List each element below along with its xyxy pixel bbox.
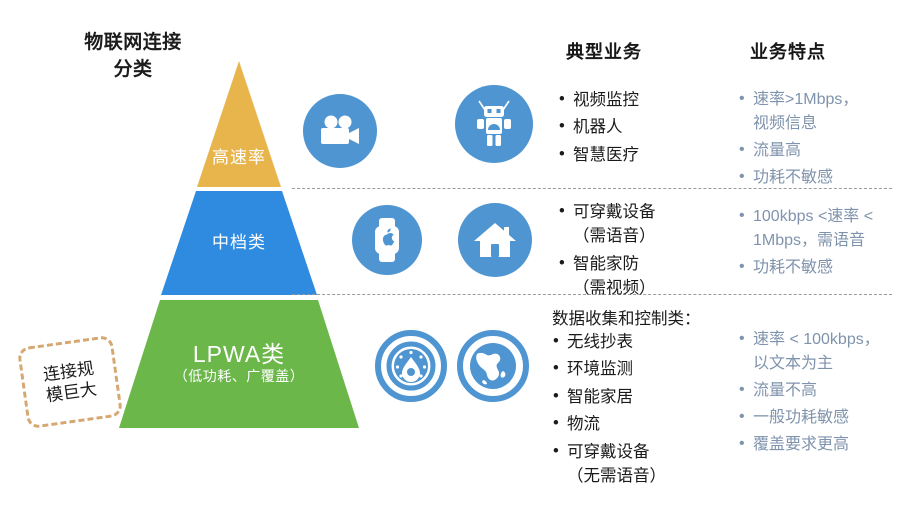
list-item: 流量高 [738, 139, 898, 163]
column-header-features: 业务特点 [750, 38, 826, 64]
column-header-services: 典型业务 [566, 38, 642, 64]
callout-text: 连接规 模巨大 [42, 357, 98, 406]
list-item: 功耗不敏感 [738, 256, 900, 280]
list-item: 视频监控 [558, 88, 728, 112]
features-list-low: 速率 < 100kbps， 以文本为主 流量不高 一般功耗敏感 覆盖要求更高 [738, 328, 898, 460]
list-item: 一般功耗敏感 [738, 406, 898, 430]
list-item: 流量不高 [738, 379, 898, 403]
pyramid-tier-lpwa [119, 300, 359, 428]
list-item: 机器人 [558, 115, 728, 139]
robot-icon [455, 85, 533, 163]
services-list-high: 视频监控 机器人 智慧医疗 [558, 88, 728, 170]
features-list-mid: 100kbps <速率 < 1Mbps，需语音 功耗不敏感 [738, 205, 900, 283]
list-item: 可穿戴设备 （需语音） [558, 200, 733, 249]
house-icon [458, 203, 532, 277]
list-item: 可穿戴设备 （无需语音） [552, 440, 737, 489]
list-item: 速率>1Mbps， 视频信息 [738, 88, 898, 136]
pyramid-tier-mid [161, 191, 317, 295]
list-item: 智能家居 [552, 385, 737, 409]
list-item: 无线抄表 [552, 330, 737, 354]
list-item: 速率 < 100kbps， 以文本为主 [738, 328, 898, 376]
globe-icon [457, 330, 529, 402]
list-item: 智慧医疗 [558, 143, 728, 167]
list-item: 环境监测 [552, 357, 737, 381]
services-low-title: 数据收集和控制类： [552, 305, 701, 329]
list-item: 覆盖要求更高 [738, 433, 898, 457]
list-item: 智能家防 （需视频） [558, 252, 733, 301]
water-meter-icon [375, 330, 447, 402]
features-list-high: 速率>1Mbps， 视频信息 流量高 功耗不敏感 [738, 88, 898, 193]
list-item: 物流 [552, 412, 737, 436]
infographic-canvas: 物联网连接 分类 高速率 中档类 LPWA类 （低功耗、广覆盖） 连接规 模巨大 [0, 0, 900, 514]
smartwatch-icon [352, 205, 422, 275]
pyramid-tier-high [197, 61, 281, 187]
callout-box: 连接规 模巨大 [17, 335, 123, 430]
video-camera-icon [303, 94, 377, 168]
list-item: 功耗不敏感 [738, 166, 898, 190]
services-list-low: 无线抄表 环境监测 智能家居 物流 可穿戴设备 （无需语音） [552, 330, 737, 491]
list-item: 100kbps <速率 < 1Mbps，需语音 [738, 205, 900, 253]
services-list-mid: 可穿戴设备 （需语音） 智能家防 （需视频） [558, 200, 733, 304]
